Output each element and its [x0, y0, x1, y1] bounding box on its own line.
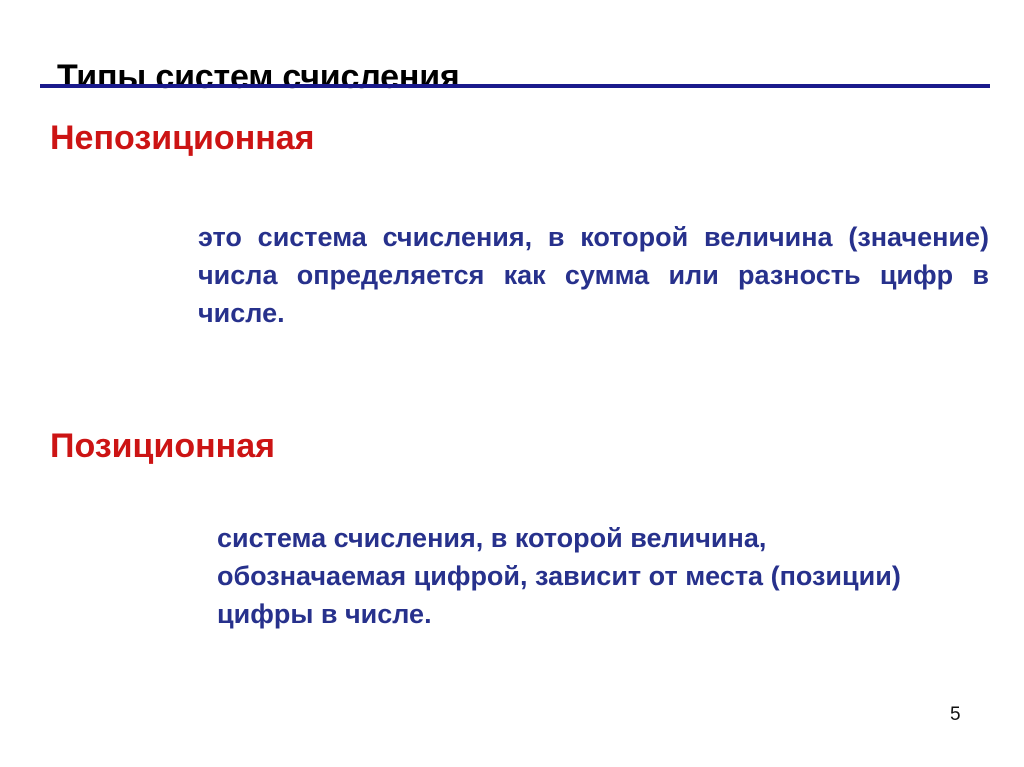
- section-body-nonpositional: это система счисления, в которой величин…: [198, 218, 989, 370]
- slide: Типы систем счисления Непозиционная это …: [0, 0, 1024, 767]
- section-heading-nonpositional: Непозиционная: [50, 120, 315, 157]
- page-title: Типы систем счисления: [57, 59, 460, 96]
- section-heading-positional: Позиционная: [50, 428, 275, 465]
- page-number: 5: [950, 704, 961, 726]
- section-body-positional: система счисления, в которой величина, о…: [217, 519, 917, 633]
- title-divider: [40, 84, 990, 88]
